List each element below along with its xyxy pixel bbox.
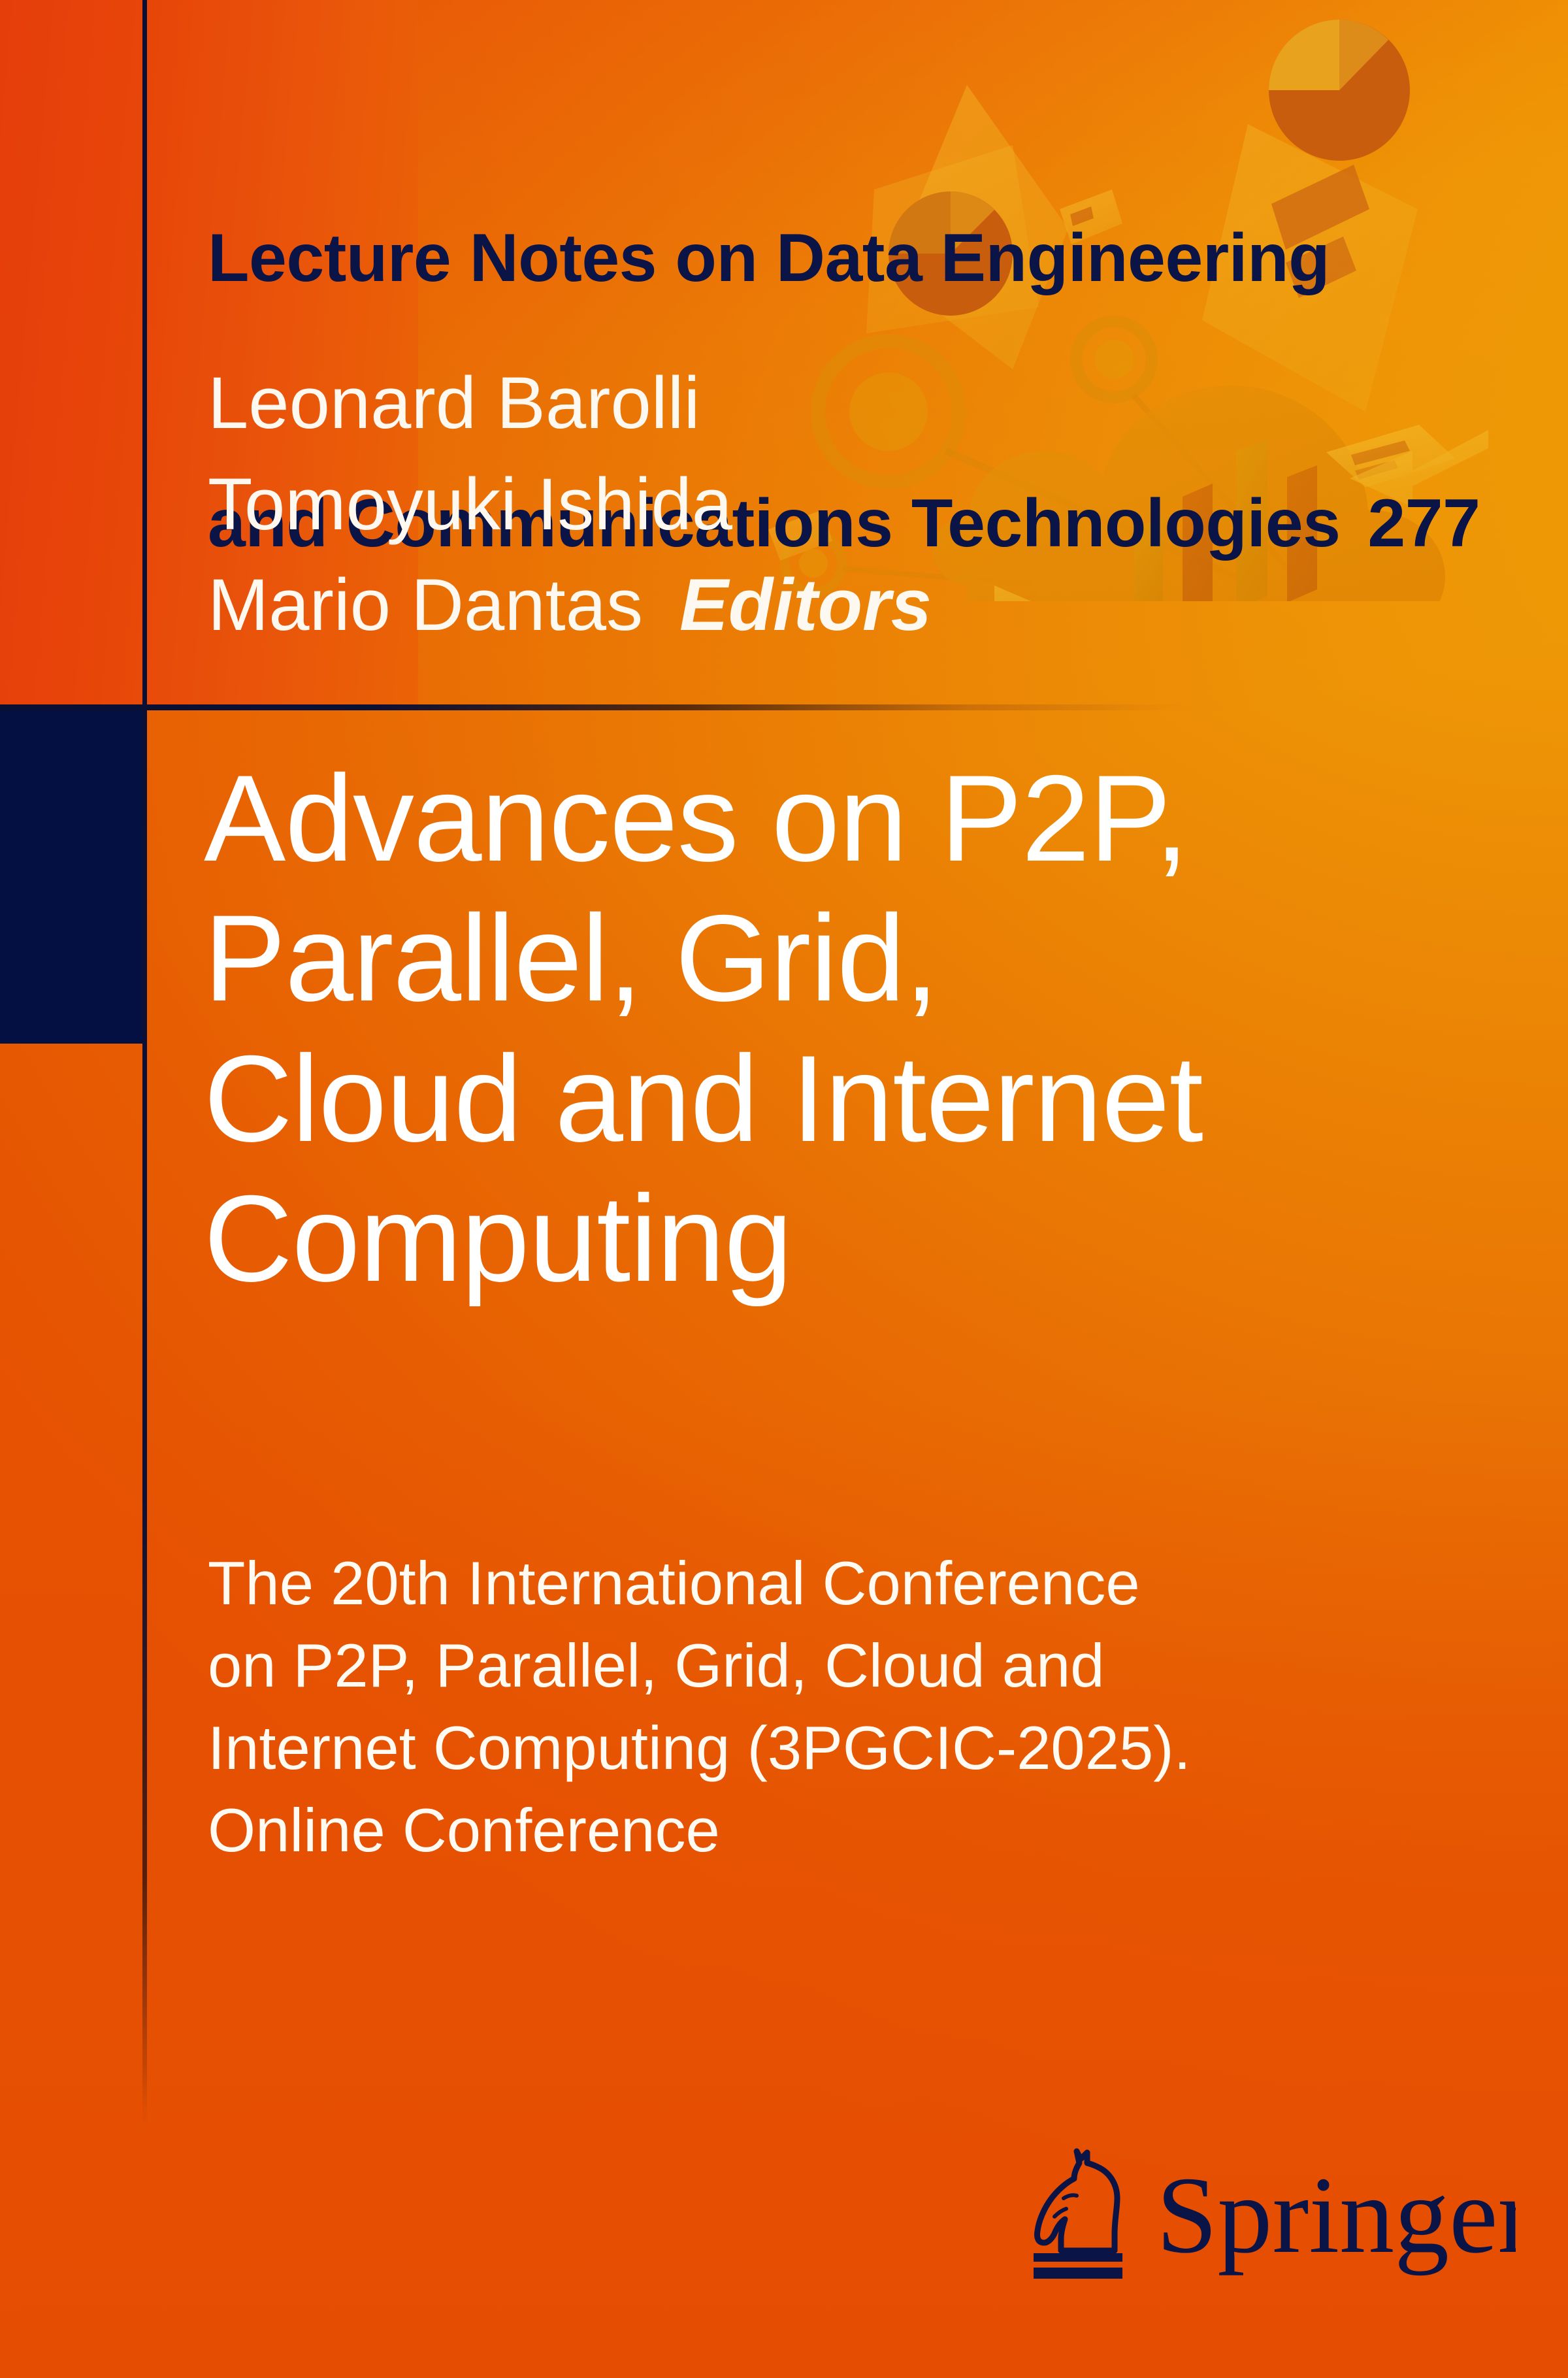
editors-role-label: Editors bbox=[643, 564, 932, 646]
vertical-rule bbox=[142, 0, 147, 2130]
editor-name-3-wrap: Mario DantasEditors bbox=[208, 555, 1188, 656]
book-subtitle-line-4: Online Conference bbox=[208, 1789, 1358, 1872]
book-subtitle-line-2: on P2P, Parallel, Grid, Cloud and bbox=[208, 1625, 1358, 1707]
book-subtitle-line-3: Internet Computing (3PGCIC-2025). bbox=[208, 1707, 1358, 1789]
editors-block: Leonard Barolli Tomoyuki Ishida Mario Da… bbox=[208, 353, 1188, 656]
book-title-line-2: Parallel, Grid, bbox=[204, 888, 1380, 1028]
spine-navy-block bbox=[0, 710, 145, 1044]
book-subtitle: The 20th International Conference on P2P… bbox=[208, 1542, 1358, 1872]
springer-logo-bar-top bbox=[1034, 2253, 1122, 2262]
springer-wordmark: Springer bbox=[1156, 2155, 1516, 2276]
springer-logo: Springer bbox=[1019, 2136, 1516, 2279]
series-volume-number: 277 bbox=[1340, 486, 1480, 561]
book-title-line-4: Computing bbox=[204, 1168, 1380, 1308]
book-subtitle-line-1: The 20th International Conference bbox=[208, 1542, 1358, 1625]
editor-name-1: Leonard Barolli bbox=[208, 353, 1188, 454]
springer-logo-bar-bottom bbox=[1034, 2268, 1122, 2279]
editor-name-2: Tomoyuki Ishida bbox=[208, 454, 1188, 555]
book-title: Advances on P2P, Parallel, Grid, Cloud a… bbox=[204, 748, 1380, 1308]
book-title-line-1: Advances on P2P, bbox=[204, 748, 1380, 888]
editor-name-3: Mario Dantas bbox=[208, 564, 643, 646]
springer-knight-icon bbox=[1037, 2151, 1117, 2251]
book-cover: Lecture Notes on Data Engineering and Co… bbox=[0, 0, 1568, 2378]
series-title-line-1: Lecture Notes on Data Engineering bbox=[208, 214, 1318, 303]
book-title-line-3: Cloud and Internet bbox=[204, 1029, 1380, 1168]
